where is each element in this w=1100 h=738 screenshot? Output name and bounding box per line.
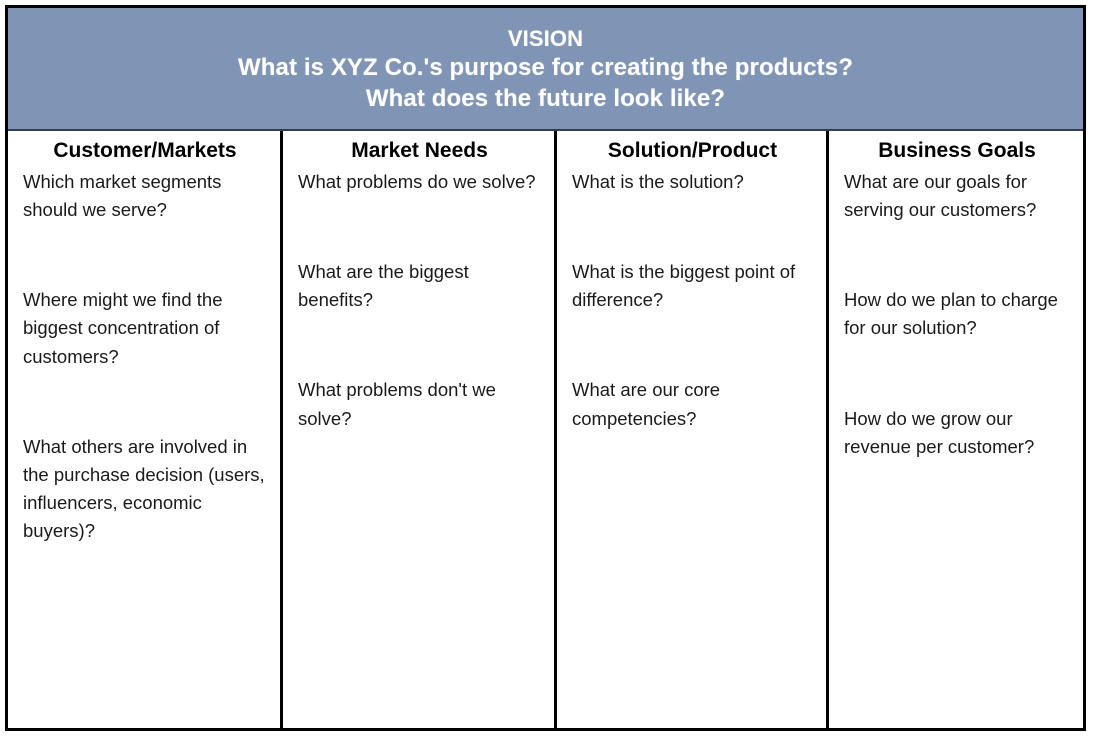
prompt-item: What are our goals for serving our custo… <box>844 168 1070 224</box>
column-header-business-goals: Business Goals <box>844 139 1070 163</box>
prompt-list-business-goals: What are our goals for serving our custo… <box>844 168 1070 461</box>
column-header-solution-product: Solution/Product <box>572 139 813 163</box>
prompt-item: How do we plan to charge for our solutio… <box>844 286 1070 342</box>
screenshot-canvas: VISION What is XYZ Co.'s purpose for cre… <box>0 0 1100 738</box>
vision-banner-title: VISION <box>508 25 583 53</box>
prompt-item: Which market segments should we serve? <box>23 168 267 224</box>
prompt-item: What problems do we solve? <box>298 168 541 196</box>
prompt-item: What others are involved in the purchase… <box>23 433 267 545</box>
prompt-item: What are the biggest benefits? <box>298 258 541 314</box>
prompt-item: How do we grow our revenue per customer? <box>844 405 1070 461</box>
column-solution-product: Solution/Product What is the solution? W… <box>554 131 826 728</box>
prompt-list-customer-markets: Which market segments should we serve? W… <box>23 168 267 545</box>
column-header-market-needs: Market Needs <box>298 139 541 163</box>
table-columns: Customer/Markets Which market segments s… <box>8 131 1083 728</box>
prompt-item: What problems don't we solve? <box>298 376 541 432</box>
prompt-list-solution-product: What is the solution? What is the bigges… <box>572 168 813 433</box>
column-business-goals: Business Goals What are our goals for se… <box>826 131 1083 728</box>
prompt-item: What is the biggest point of difference? <box>572 258 813 314</box>
column-market-needs: Market Needs What problems do we solve? … <box>280 131 554 728</box>
vision-strategy-table: VISION What is XYZ Co.'s purpose for cre… <box>5 5 1086 731</box>
prompt-list-market-needs: What problems do we solve? What are the … <box>298 168 541 433</box>
prompt-item: What are our core competencies? <box>572 376 813 432</box>
prompt-item: What is the solution? <box>572 168 813 196</box>
column-customer-markets: Customer/Markets Which market segments s… <box>8 131 280 728</box>
column-header-customer-markets: Customer/Markets <box>23 139 267 163</box>
prompt-item: Where might we find the biggest concentr… <box>23 286 267 370</box>
vision-banner-question-1: What is XYZ Co.'s purpose for creating t… <box>238 53 853 84</box>
vision-banner: VISION What is XYZ Co.'s purpose for cre… <box>8 8 1083 131</box>
vision-banner-question-2: What does the future look like? <box>366 84 725 115</box>
